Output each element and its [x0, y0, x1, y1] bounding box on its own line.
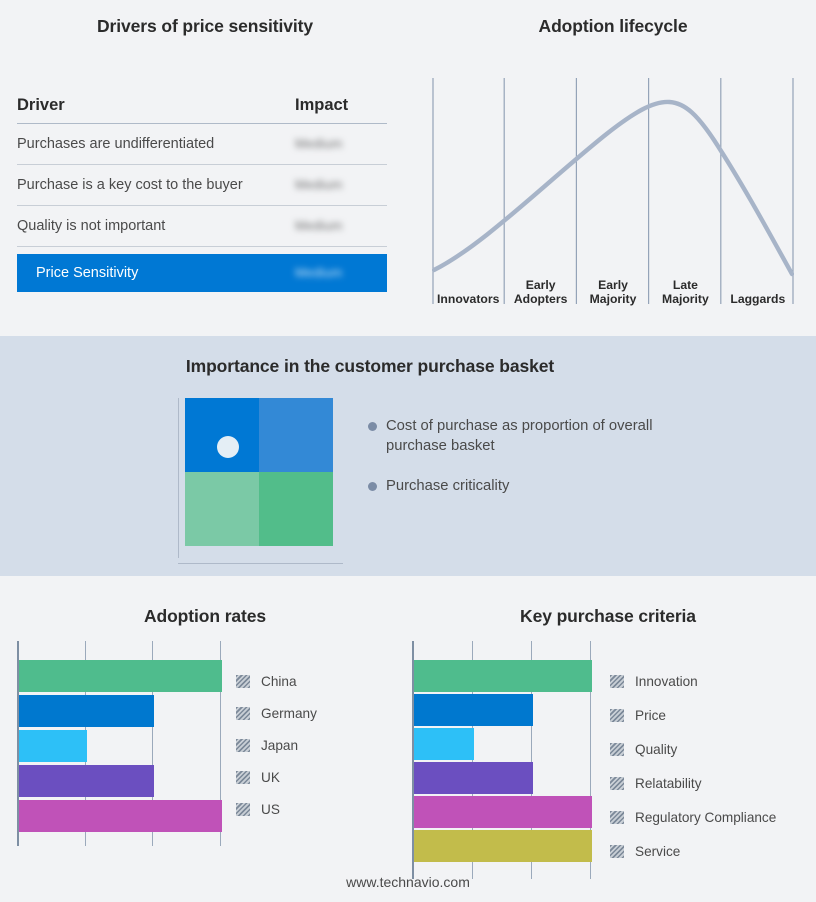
legend-label: Relatability	[635, 776, 702, 791]
bar-row[interactable]	[19, 695, 154, 727]
quadrant-matrix	[178, 398, 345, 564]
matrix-y-axis	[178, 398, 179, 558]
bar-quality[interactable]	[414, 728, 474, 760]
adoption-rates-chart: China Germany Japan UK US	[17, 641, 407, 846]
bar-price[interactable]	[414, 694, 533, 726]
legend-label: Germany	[261, 706, 317, 721]
stage-label-late-majority: Late Majority	[649, 270, 721, 308]
bar-germany[interactable]	[19, 695, 154, 727]
adoption-rates-title: Adoption rates	[0, 606, 410, 627]
legend-swatch-icon	[236, 675, 250, 688]
bar-row[interactable]	[19, 765, 154, 797]
quadrant-top-right[interactable]	[259, 398, 333, 472]
bar-relatability[interactable]	[414, 762, 533, 794]
legend-label: Regulatory Compliance	[635, 810, 776, 825]
legend-label: US	[261, 802, 280, 817]
impact-value-redacted: Medium	[295, 218, 342, 233]
legend-swatch-icon	[610, 845, 624, 858]
bar-row[interactable]	[414, 830, 592, 862]
bar-regulatory-compliance[interactable]	[414, 796, 592, 828]
table-header-row: Driver Impact	[17, 88, 387, 124]
bar-japan[interactable]	[19, 730, 87, 762]
impact-value-redacted: Medium	[295, 136, 342, 151]
key-purchase-criteria-title: Key purchase criteria	[400, 606, 816, 627]
purchase-basket-title: Importance in the customer purchase bask…	[120, 356, 620, 377]
quadrant-bottom-left[interactable]	[185, 472, 259, 546]
driver-label: Quality is not important	[17, 218, 295, 234]
stage-label-early-majority: Early Majority	[577, 270, 649, 308]
price-sensitivity-impact: Medium	[295, 265, 387, 281]
driver-label: Purchase is a key cost to the buyer	[17, 177, 295, 193]
bar-uk[interactable]	[19, 765, 154, 797]
bar-row[interactable]	[414, 796, 592, 828]
legend-item: Cost of purchase as proportion of overal…	[368, 416, 668, 456]
drivers-title: Drivers of price sensitivity	[0, 16, 410, 37]
stage-label-innovators: Innovators	[432, 270, 504, 308]
adoption-lifecycle-stage-labels: Innovators Early Adopters Early Majority…	[432, 270, 794, 308]
legend-swatch-icon	[610, 675, 624, 688]
legend-swatch-icon	[236, 803, 250, 816]
adoption-rates-plot-area	[17, 641, 222, 846]
legend-label: Japan	[261, 738, 298, 753]
table-row[interactable]: Purchases are undifferentiated Medium	[17, 124, 387, 165]
impact-value: Medium	[295, 136, 387, 152]
legend-item-us[interactable]: US	[236, 793, 317, 825]
price-sensitivity-label: Price Sensitivity	[36, 265, 295, 281]
column-header-impact: Impact	[295, 96, 387, 115]
legend-swatch-icon	[610, 743, 624, 756]
bar-service[interactable]	[414, 830, 592, 862]
legend-label: China	[261, 674, 297, 689]
bar-row[interactable]	[19, 800, 222, 832]
bar-row[interactable]	[414, 728, 474, 760]
adoption-curve	[434, 102, 792, 274]
drivers-panel: Drivers of price sensitivity Driver Impa…	[0, 0, 410, 336]
legend-item-relatability[interactable]: Relatability	[610, 766, 776, 800]
quadrant-bottom-right[interactable]	[259, 472, 333, 546]
impact-value: Medium	[295, 218, 387, 234]
legend-swatch-icon	[610, 811, 624, 824]
drivers-table: Driver Impact Purchases are undifferenti…	[17, 88, 387, 292]
adoption-rates-panel: Adoption rates	[0, 576, 410, 902]
bar-innovation[interactable]	[414, 660, 592, 692]
position-marker	[217, 436, 239, 458]
bar-china[interactable]	[19, 660, 222, 692]
key-purchase-criteria-chart: Innovation Price Quality Relatability Re…	[412, 641, 812, 879]
legend-label: Cost of purchase as proportion of overal…	[386, 416, 668, 456]
legend-label: Innovation	[635, 674, 698, 689]
legend-item-japan[interactable]: Japan	[236, 729, 317, 761]
legend-swatch-icon	[610, 709, 624, 722]
table-row[interactable]: Quality is not important Medium	[17, 206, 387, 247]
adoption-rates-legend: China Germany Japan UK US	[236, 665, 317, 825]
legend-item-quality[interactable]: Quality	[610, 732, 776, 766]
legend-item-price[interactable]: Price	[610, 698, 776, 732]
bullet-icon	[368, 482, 377, 491]
key-purchase-criteria-legend: Innovation Price Quality Relatability Re…	[610, 664, 776, 868]
column-header-driver: Driver	[17, 96, 295, 115]
legend-item-regulatory-compliance[interactable]: Regulatory Compliance	[610, 800, 776, 834]
key-purchase-criteria-plot-area	[412, 641, 592, 879]
legend-label: Price	[635, 708, 666, 723]
legend-swatch-icon	[610, 777, 624, 790]
legend-item-china[interactable]: China	[236, 665, 317, 697]
impact-value: Medium	[295, 177, 387, 193]
legend-item-germany[interactable]: Germany	[236, 697, 317, 729]
bar-row[interactable]	[414, 660, 592, 692]
purchase-basket-legend: Cost of purchase as proportion of overal…	[368, 416, 668, 516]
legend-label: Service	[635, 844, 680, 859]
legend-item: Purchase criticality	[368, 476, 668, 496]
quadrant-grid	[185, 398, 333, 546]
legend-item-innovation[interactable]: Innovation	[610, 664, 776, 698]
impact-value-redacted: Medium	[295, 265, 342, 280]
driver-label: Purchases are undifferentiated	[17, 136, 295, 152]
legend-label: UK	[261, 770, 280, 785]
bar-row[interactable]	[19, 660, 222, 692]
legend-swatch-icon	[236, 771, 250, 784]
legend-swatch-icon	[236, 739, 250, 752]
table-row[interactable]: Purchase is a key cost to the buyer Medi…	[17, 165, 387, 206]
bar-row[interactable]	[414, 762, 533, 794]
legend-item-uk[interactable]: UK	[236, 761, 317, 793]
legend-label: Purchase criticality	[386, 476, 509, 496]
impact-value-redacted: Medium	[295, 177, 342, 192]
stage-label-early-adopters: Early Adopters	[504, 270, 576, 308]
legend-item-service[interactable]: Service	[610, 834, 776, 868]
adoption-lifecycle-title: Adoption lifecycle	[410, 16, 816, 37]
legend-swatch-icon	[236, 707, 250, 720]
bar-row[interactable]	[414, 694, 533, 726]
matrix-x-axis	[178, 563, 343, 564]
adoption-lifecycle-panel: Adoption lifecycle Innovators Early Adop…	[410, 0, 816, 336]
key-purchase-criteria-panel: Key purchase criteria	[400, 576, 816, 902]
price-sensitivity-summary-row[interactable]: Price Sensitivity Medium	[17, 254, 387, 292]
bar-row[interactable]	[19, 730, 87, 762]
bullet-icon	[368, 422, 377, 431]
quadrant-top-left[interactable]	[185, 398, 259, 472]
footer-url[interactable]: www.technavio.com	[0, 874, 816, 890]
bar-us[interactable]	[19, 800, 222, 832]
purchase-basket-panel: Importance in the customer purchase bask…	[0, 336, 816, 576]
legend-label: Quality	[635, 742, 677, 757]
stage-label-laggards: Laggards	[722, 270, 794, 308]
